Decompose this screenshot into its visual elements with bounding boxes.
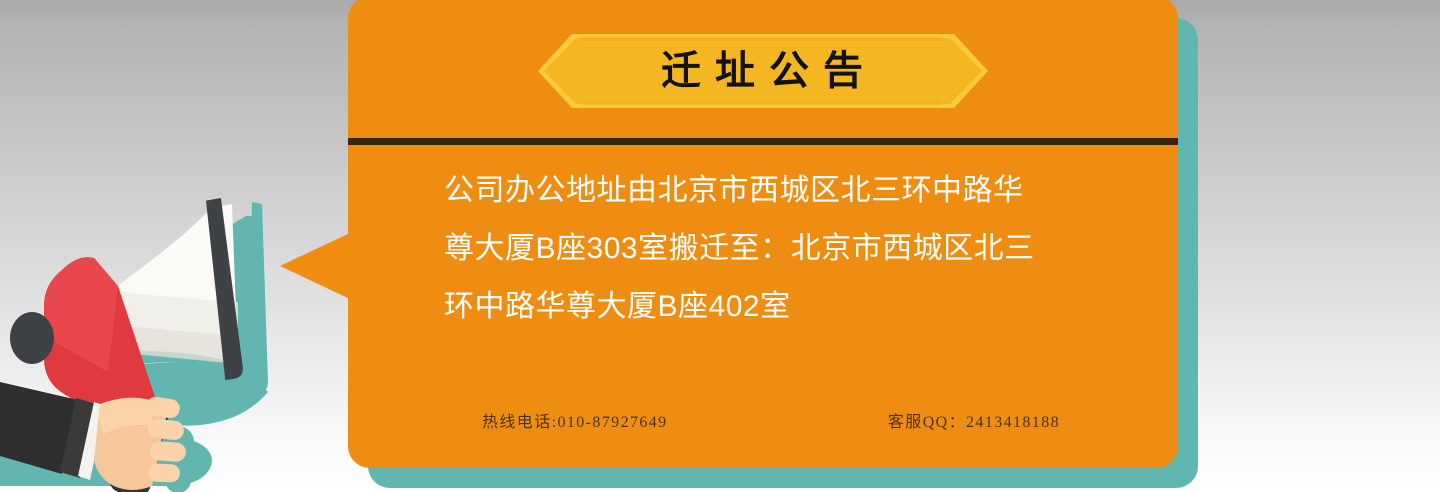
announcement-body: 公司办公地址由北京市西城区北三环中路华 尊大厦B座303室搬迁至：北京市西城区北… xyxy=(444,162,1094,336)
body-line: 尊大厦B座303室搬迁至：北京市西城区北三 xyxy=(444,220,1094,278)
body-line: 环中路华尊大厦B座402室 xyxy=(444,278,1094,336)
customer-service-qq-text: 客服QQ：2413418188 xyxy=(888,408,1060,432)
body-line: 公司办公地址由北京市西城区北三环中路华 xyxy=(444,162,1094,220)
contact-footer: 热线电话:010-87927649 客服QQ：2413418188 xyxy=(444,408,1104,432)
announcement-banner: 迁址公告 公司办公地址由北京市西城区北三环中路华 尊大厦B座303室搬迁至：北京… xyxy=(0,0,1440,492)
hotline-text: 热线电话:010-87927649 xyxy=(482,408,668,432)
hand xyxy=(94,396,187,490)
card-divider xyxy=(348,138,1178,145)
speech-bubble-tail xyxy=(280,232,352,300)
title-ribbon: 迁址公告 xyxy=(534,32,990,110)
page-title: 迁址公告 xyxy=(534,32,990,110)
